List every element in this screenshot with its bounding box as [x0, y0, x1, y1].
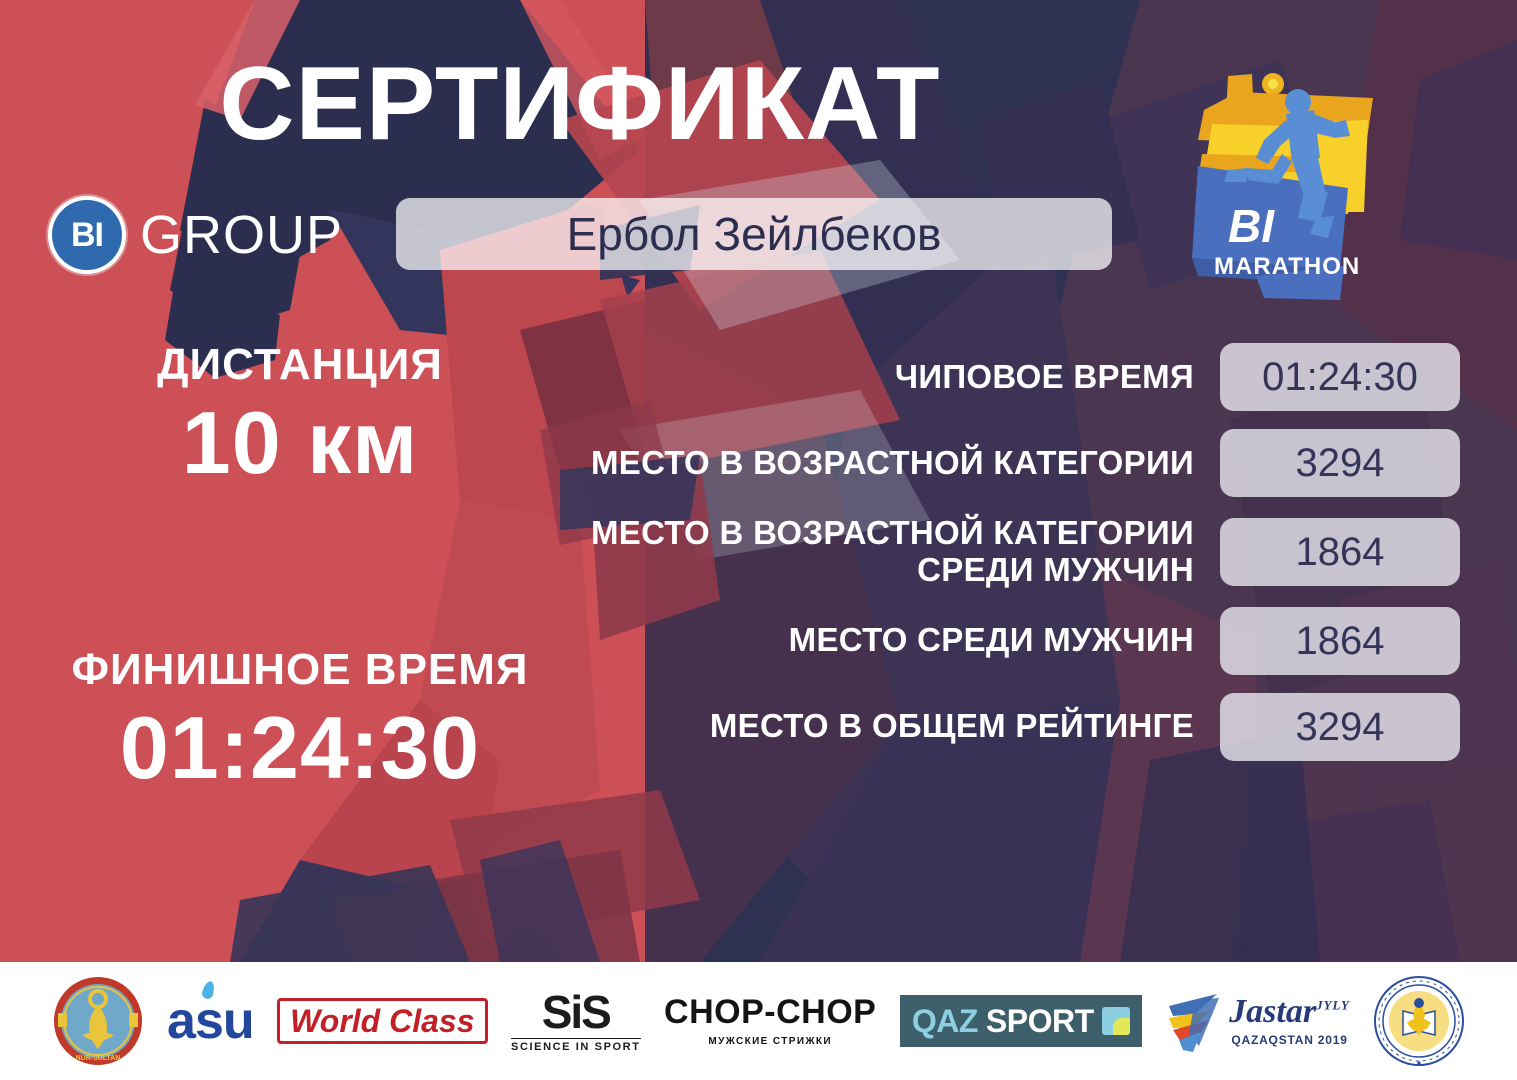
stat-value: 1864: [1296, 532, 1385, 572]
stat-value: 1864: [1296, 621, 1385, 661]
participant-name-value: Ербол Зейлбеков: [567, 211, 942, 257]
distance-value: 10 км: [60, 395, 540, 490]
jastar-bird-icon: [1165, 988, 1223, 1054]
sis-logo: SiS SCIENCE IN SPORT: [511, 989, 641, 1053]
jastar-text-block: JastarJYLY QAZAQSTAN 2019: [1229, 995, 1350, 1047]
sponsor-jastar-jyly: JastarJYLY QAZAQSTAN 2019: [1165, 975, 1350, 1067]
stat-value: 01:24:30: [1262, 357, 1418, 397]
stat-value-pill: 1864: [1220, 607, 1460, 675]
sponsor-asu: asu: [167, 975, 254, 1067]
sis-logo-subtext: SCIENCE IN SPORT: [511, 1038, 641, 1053]
qazsport-square-icon: [1102, 1007, 1130, 1035]
world-class-logo-text: World Class: [277, 998, 487, 1044]
finish-time-value: 01:24:30: [60, 700, 540, 795]
stat-value-pill: 3294: [1220, 429, 1460, 497]
stat-value: 3294: [1296, 707, 1385, 747]
stat-label: МЕСТО В ВОЗРАСТНОЙ КАТЕГОРИИ: [520, 445, 1194, 482]
stat-value-pill: 1864: [1220, 518, 1460, 586]
sponsor-qazsport: QAZ SPORT: [900, 975, 1142, 1067]
chop-chop-logo: CHOP-CHOP МУЖСКИЕ СТРИЖКИ: [664, 995, 876, 1047]
bi-group-word: GROUP: [140, 208, 343, 262]
sponsor-ministry: [1373, 975, 1465, 1067]
bi-badge-label: BI: [71, 218, 103, 252]
distance-label: ДИСТАНЦИЯ: [60, 340, 540, 389]
certificate-canvas: СЕРТИФИКАТ BI GROUP Ербол Зейлбеков: [0, 0, 1517, 1080]
svg-text:MARATHON: MARATHON: [1214, 253, 1360, 280]
bi-group-logo: BI GROUP: [48, 196, 343, 274]
jastar-jyly-word: JYLY: [1316, 998, 1350, 1013]
jastar-logo-subtext: QAZAQSTAN 2019: [1229, 1033, 1350, 1047]
sponsor-sis: SiS SCIENCE IN SPORT: [511, 975, 641, 1067]
bi-marathon-badge-icon: BI MARATHON: [1168, 62, 1398, 302]
bi-circle-badge: BI: [48, 196, 126, 274]
stat-row: МЕСТО В ОБЩЕМ РЕЙТИНГЕ 3294: [520, 693, 1460, 761]
distance-block: ДИСТАНЦИЯ 10 км: [60, 340, 540, 490]
qazsport-label-qaz: QAZ: [912, 1005, 978, 1037]
svg-text:NUR-SULTAN: NUR-SULTAN: [75, 1055, 120, 1062]
stat-label: МЕСТО В ВОЗРАСТНОЙ КАТЕГОРИИ СРЕДИ МУЖЧИ…: [520, 515, 1194, 589]
sponsor-nur-sultan: NUR-SULTAN: [52, 975, 144, 1067]
finish-time-label: ФИНИШНОЕ ВРЕМЯ: [60, 645, 540, 694]
ministry-emblem-icon: [1373, 975, 1465, 1067]
jastar-word: Jastar: [1229, 993, 1316, 1030]
stat-row: ЧИПОВОЕ ВРЕМЯ 01:24:30: [520, 343, 1460, 411]
stat-label: ЧИПОВОЕ ВРЕМЯ: [520, 359, 1194, 396]
participant-name-field: Ербол Зейлбеков: [396, 198, 1112, 270]
nur-sultan-emblem-icon: NUR-SULTAN: [52, 975, 144, 1067]
svg-text:BI: BI: [1228, 200, 1275, 252]
stat-row: МЕСТО В ВОЗРАСТНОЙ КАТЕГОРИИ 3294: [520, 429, 1460, 497]
stat-row: МЕСТО СРЕДИ МУЖЧИН 1864: [520, 607, 1460, 675]
qazsport-label-sport: SPORT: [986, 1005, 1094, 1037]
asu-logo-text: asu: [167, 995, 254, 1047]
stat-value: 3294: [1296, 443, 1385, 483]
sponsor-strip: NUR-SULTAN asu World Class SiS SCIENCE I…: [0, 962, 1517, 1080]
stats-list: ЧИПОВОЕ ВРЕМЯ 01:24:30 МЕСТО В ВОЗРАСТНО…: [520, 343, 1460, 779]
stat-value-pill: 3294: [1220, 693, 1460, 761]
stat-row: МЕСТО В ВОЗРАСТНОЙ КАТЕГОРИИ СРЕДИ МУЖЧИ…: [520, 515, 1460, 589]
page-title: СЕРТИФИКАТ: [0, 52, 1160, 156]
chop-chop-logo-text: CHOP-CHOP: [664, 995, 876, 1029]
asu-label: asu: [167, 992, 254, 1050]
jastar-logo-text: JastarJYLY: [1229, 995, 1350, 1029]
sponsor-world-class: World Class: [277, 975, 487, 1067]
sis-logo-text: SiS: [511, 989, 641, 1035]
stat-label: МЕСТО СРЕДИ МУЖЧИН: [520, 622, 1194, 659]
chop-chop-logo-subtext: МУЖСКИЕ СТРИЖКИ: [664, 1036, 876, 1047]
sponsor-chop-chop: CHOP-CHOP МУЖСКИЕ СТРИЖКИ: [664, 975, 876, 1067]
stat-label: МЕСТО В ОБЩЕМ РЕЙТИНГЕ: [520, 708, 1194, 745]
bi-marathon-logo: BI MARATHON: [1168, 62, 1398, 302]
jastar-logo: JastarJYLY QAZAQSTAN 2019: [1165, 988, 1350, 1054]
qazsport-logo: QAZ SPORT: [900, 995, 1142, 1047]
stat-value-pill: 01:24:30: [1220, 343, 1460, 411]
finish-time-block: ФИНИШНОЕ ВРЕМЯ 01:24:30: [60, 645, 540, 795]
